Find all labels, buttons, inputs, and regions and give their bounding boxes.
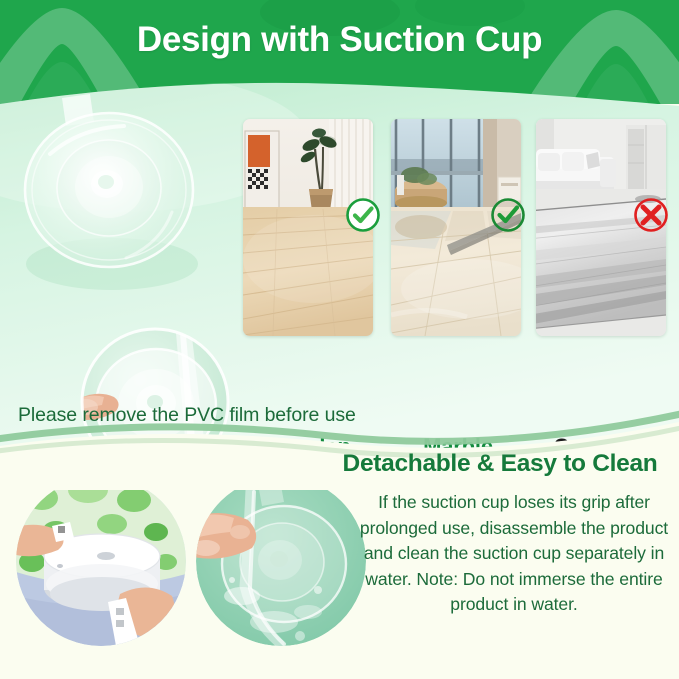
- suction-cup-product-image: [0, 92, 244, 342]
- pvc-film-peel-inset-image: [80, 327, 230, 450]
- photo-disassemble-product: [16, 476, 186, 646]
- pvc-film-note: Please remove the PVC film before use: [18, 404, 356, 427]
- product-infographic: Design with Suction Cup: [0, 0, 679, 679]
- cleaning-section: Detachable & Easy to Clean If the suctio…: [0, 440, 679, 679]
- cleaning-title: Detachable & Easy to Clean: [326, 450, 674, 478]
- cleaning-description: If the suction cup loses its grip after …: [352, 490, 676, 618]
- suction-cup-section: Wooden Marble Carpet (X): [0, 82, 679, 450]
- photo-rinse-suction-cup: [196, 476, 366, 646]
- page-title: Design with Suction Cup: [0, 20, 679, 60]
- cross-circle-icon: [632, 196, 670, 234]
- check-circle-icon: [344, 196, 382, 234]
- check-circle-icon: [489, 196, 527, 234]
